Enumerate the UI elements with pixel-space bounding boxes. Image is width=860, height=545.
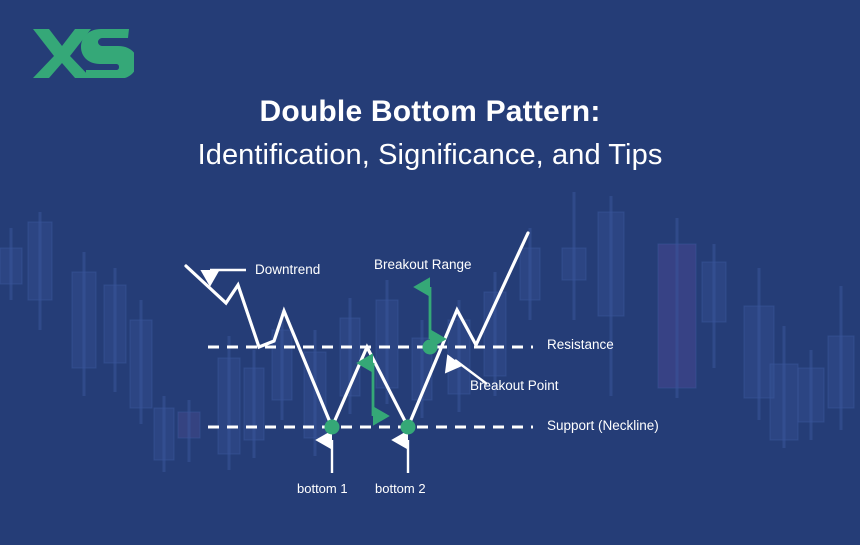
label-breakout-range: Breakout Range — [374, 257, 472, 273]
label-bottom-1: bottom 1 — [297, 481, 348, 497]
label-support-neckline: Support (Neckline) — [547, 418, 659, 434]
label-resistance: Resistance — [547, 337, 614, 353]
infographic-canvas: Double Bottom Pattern: Identification, S… — [0, 0, 860, 545]
price-path — [186, 233, 528, 427]
label-breakout-point: Breakout Point — [470, 378, 559, 394]
marker-bottom-2 — [401, 420, 416, 435]
label-bottom-2: bottom 2 — [375, 481, 426, 497]
marker-bottom-1 — [325, 420, 340, 435]
marker-breakout-point — [423, 340, 438, 355]
label-downtrend: Downtrend — [255, 262, 320, 278]
